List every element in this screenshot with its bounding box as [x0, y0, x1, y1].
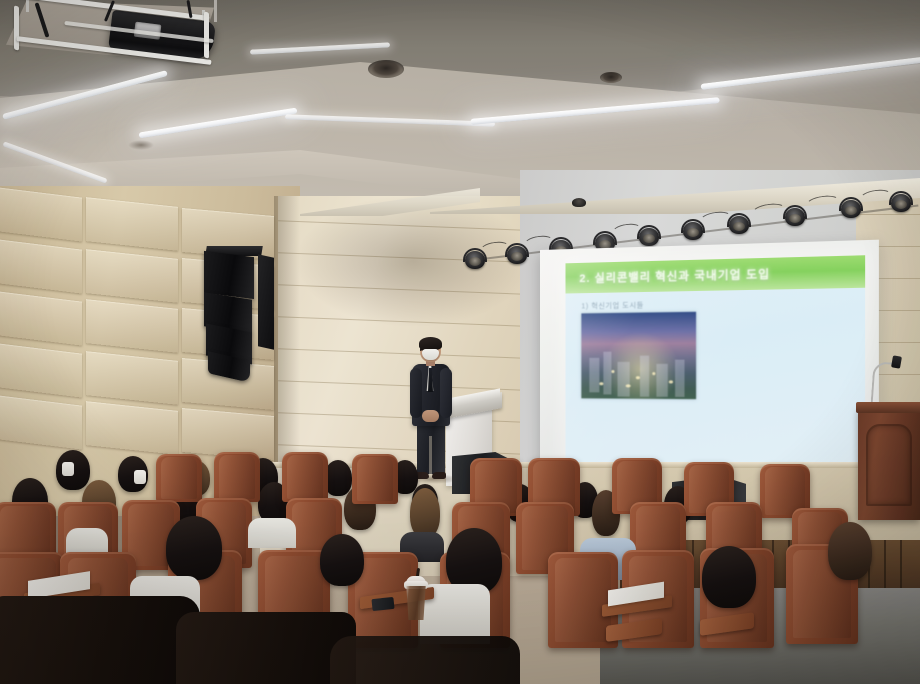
foreground-seat-silhouette: [0, 596, 200, 684]
audience-head: [702, 546, 756, 608]
acoustic-panel: [0, 290, 82, 345]
presenter-hands: [422, 410, 439, 422]
face-mask-icon: [134, 470, 146, 484]
foreground-person-silhouette: [330, 636, 520, 684]
speaker-side-wing: [258, 254, 274, 349]
dome-camera-icon: [572, 198, 586, 207]
ceiling-downlight-2: [600, 72, 622, 83]
audience-head: [320, 534, 364, 586]
cup-body: [405, 586, 427, 620]
par-lens: [845, 206, 857, 215]
presenter-arm: [410, 368, 422, 418]
city-light: [611, 370, 614, 373]
city-light: [652, 372, 655, 375]
ceiling-downlight-1: [368, 60, 404, 78]
audience-head: [324, 460, 352, 496]
acoustic-panel: [0, 342, 82, 397]
ceiling-mark: [128, 140, 154, 150]
acoustic-panel: [0, 186, 82, 241]
auditorium-chair[interactable]: [156, 454, 202, 502]
acoustic-panel: [86, 249, 178, 303]
auditorium-chair[interactable]: [352, 454, 398, 504]
slide-bullet-text: 1) 혁신기업 도시들: [581, 300, 643, 311]
iced-coffee-cup[interactable]: [404, 576, 428, 620]
smartphone[interactable]: [371, 597, 394, 611]
city-building: [618, 362, 630, 397]
lectern-top: [856, 402, 920, 413]
face-mask-icon: [62, 462, 74, 476]
par-lens: [733, 222, 745, 231]
audience-head: [410, 488, 440, 538]
microphone-stem: [870, 361, 897, 407]
slide-title: 2. 실리콘밸리 혁신과 국내기업 도입: [565, 265, 770, 286]
audience-shoulders: [248, 518, 296, 548]
city-building: [640, 356, 649, 397]
auditorium-chair[interactable]: [214, 452, 260, 502]
city-light: [669, 380, 673, 383]
par-lens: [469, 257, 481, 266]
foreground-seat-silhouette: [176, 612, 356, 684]
par-lens: [687, 228, 699, 237]
acoustic-panel: [0, 238, 82, 293]
city-building: [589, 358, 599, 393]
presenter-arm: [440, 368, 452, 418]
cage-bar-right: [204, 11, 209, 58]
stage-par-light: [782, 202, 808, 228]
acoustic-panel: [86, 197, 178, 251]
projector-hanger-1: [26, 0, 29, 12]
city-light: [599, 382, 603, 385]
wall-seam: [856, 214, 920, 215]
par-lens: [789, 214, 801, 223]
audience-head: [828, 522, 872, 580]
city-light: [636, 376, 640, 379]
stage-par-light: [888, 188, 914, 214]
par-lens: [511, 252, 523, 261]
line-array-speaker: [204, 252, 262, 380]
cage-bar-left: [14, 5, 19, 50]
slide-cityscape-photo: [581, 312, 696, 399]
auditorium-chair[interactable]: [282, 452, 328, 502]
city-building: [603, 352, 611, 395]
audience-head: [166, 516, 222, 580]
city-building: [656, 364, 667, 397]
speaker-module: [204, 251, 254, 299]
acoustic-panel: [86, 299, 178, 353]
auditorium-photo: 2. 실리콘밸리 혁신과 국내기업 도입 1) 혁신기업 도시들: [0, 0, 920, 684]
city-light: [626, 384, 631, 387]
par-lens: [643, 234, 655, 243]
city-building: [675, 360, 684, 397]
acoustic-panel: [86, 351, 178, 405]
ceiling-wire: [214, 0, 217, 22]
par-lens: [895, 200, 907, 209]
